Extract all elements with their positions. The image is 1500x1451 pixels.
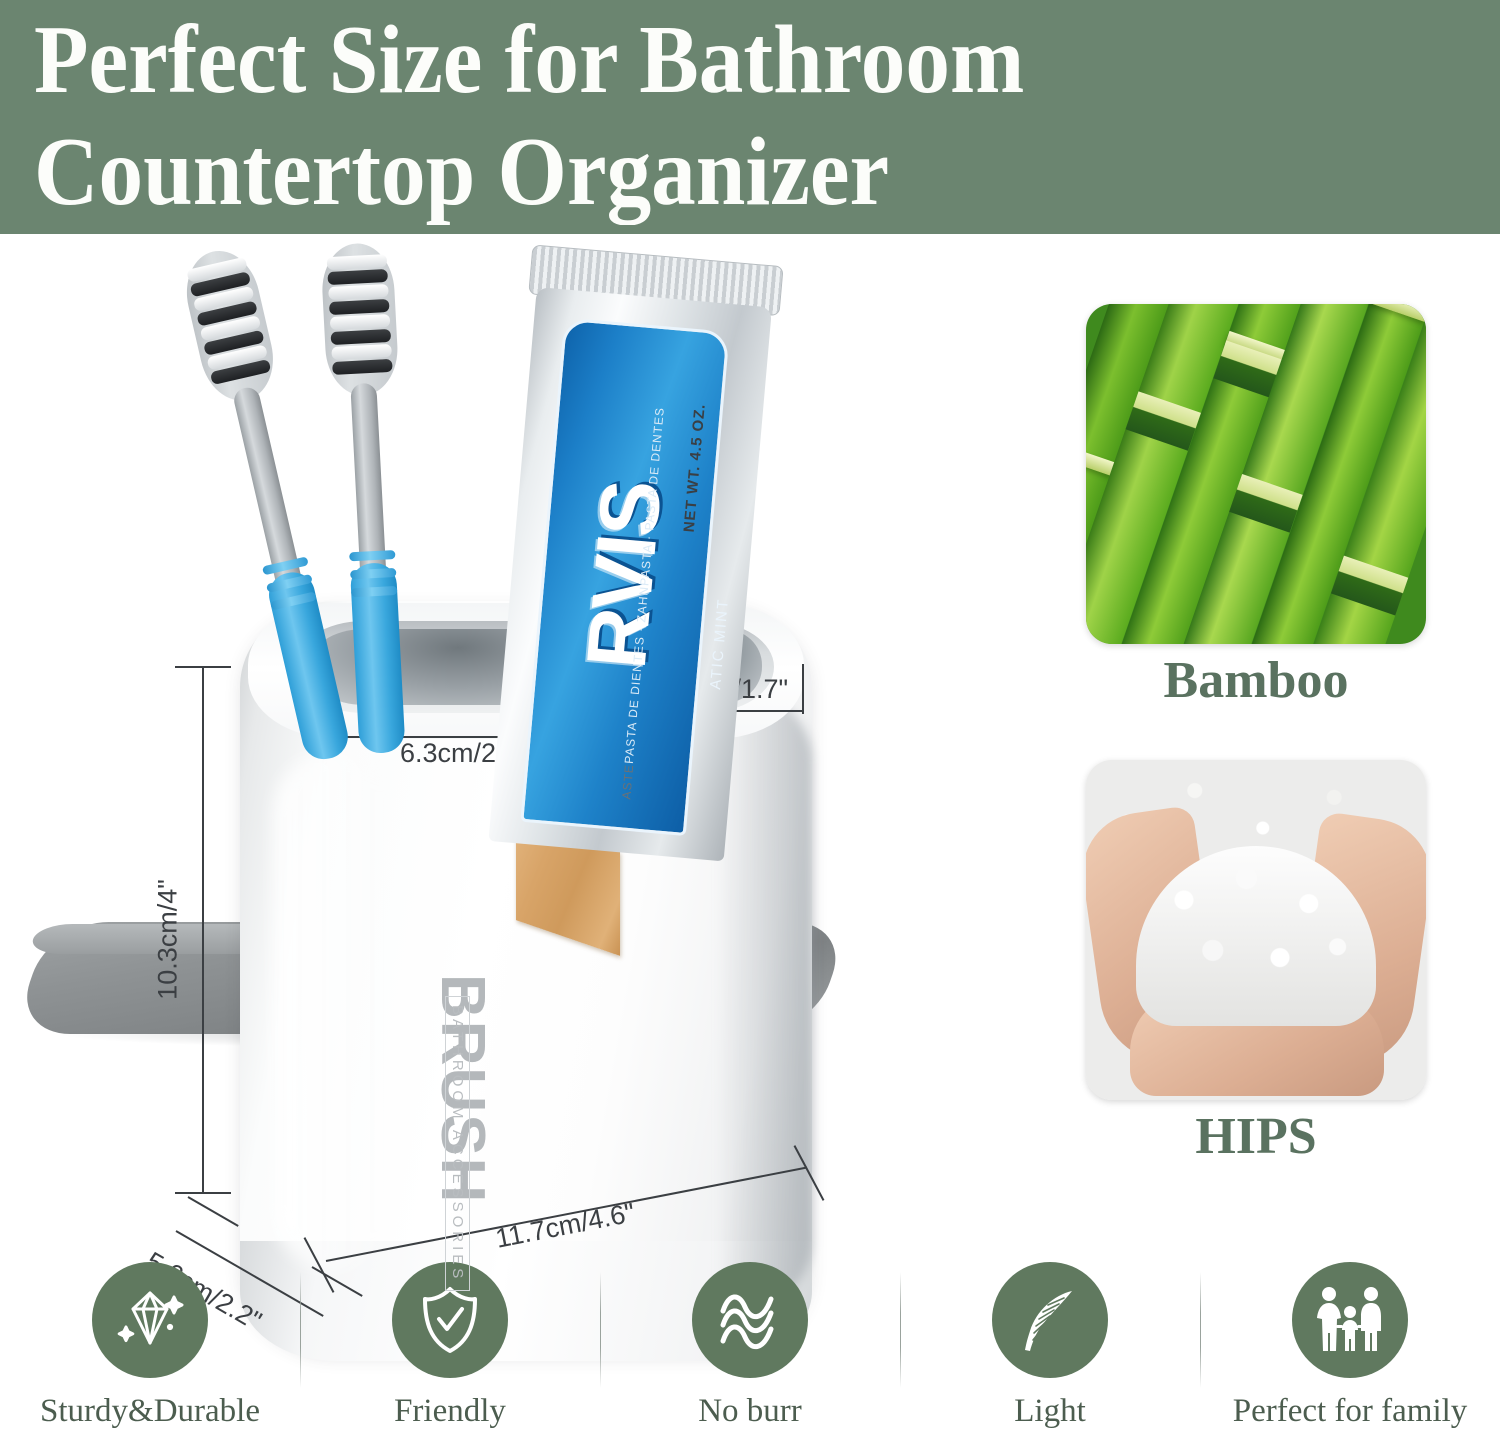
family-icon <box>1292 1262 1408 1378</box>
bamboo-node <box>1126 391 1201 450</box>
feature-light: Light <box>900 1262 1200 1430</box>
feature-label-no-burr: No burr <box>698 1392 802 1430</box>
feature-perfect-for-family: Perfect for family <box>1200 1262 1500 1430</box>
feature-separator <box>900 1272 901 1388</box>
material-label-bamboo: Bamboo <box>1086 652 1426 710</box>
feature-separator <box>600 1272 601 1388</box>
hips-image <box>1086 760 1426 1100</box>
product-brand-subtext: BATHROOM ACCESSORIES <box>445 996 470 1291</box>
dim-line-height <box>202 666 204 1194</box>
feature-separator <box>1200 1272 1201 1388</box>
header-text-block: Perfect Size for Bathroom Countertop Org… <box>34 4 1474 228</box>
toothpaste-brand: RVIS <box>561 407 686 744</box>
toothpaste-tube: RVIS ATIC MINT PASTA DE DIENTES · ZAHNPA… <box>474 244 783 864</box>
bristle <box>329 299 390 315</box>
feature-sturdy-durable: Sturdy&Durable <box>0 1262 300 1430</box>
toothbrush-head <box>320 242 400 398</box>
dim-tick-depth-top <box>188 1196 239 1227</box>
bristle <box>327 254 388 270</box>
dim-cap-height-top <box>175 666 231 668</box>
header-title-line-1: Perfect Size for Bathroom <box>34 4 1359 116</box>
bristle <box>331 344 392 360</box>
holder-highlight <box>274 751 394 1271</box>
bamboo-node <box>1369 304 1426 322</box>
header-banner: Perfect Size for Bathroom Countertop Org… <box>0 0 1500 234</box>
bamboo-node <box>1229 474 1303 533</box>
product-scene: RVIS ATIC MINT PASTA DE DIENTES · ZAHNPA… <box>0 234 1040 1254</box>
bamboo-image <box>1086 304 1426 644</box>
wavy-lines-icon <box>692 1262 808 1378</box>
feature-no-burr: No burr <box>600 1262 900 1430</box>
feature-label-perfect-for-family: Perfect for family <box>1233 1392 1468 1430</box>
dim-label-height: 10.3cm/4" <box>153 830 184 1050</box>
dim-cap-height-bottom <box>175 1192 231 1194</box>
hips-photo <box>1086 760 1426 1100</box>
feature-label-sturdy-durable: Sturdy&Durable <box>40 1392 260 1430</box>
bamboo-node <box>1331 556 1408 616</box>
material-label-hips: HIPS <box>1086 1108 1426 1166</box>
bamboo-photo <box>1086 304 1426 644</box>
dim-tick-side-right <box>802 664 804 714</box>
grip-ring <box>349 550 395 561</box>
material-card-hips: HIPS <box>1086 760 1426 1166</box>
bristle <box>331 329 392 345</box>
feature-separator <box>300 1272 301 1388</box>
bristle <box>328 284 389 300</box>
bristle <box>327 269 388 285</box>
product-infographic: Perfect Size for Bathroom Countertop Org… <box>0 0 1500 1451</box>
feature-strip: Sturdy&Durable Friendly No burr <box>0 1262 1500 1451</box>
feature-label-light: Light <box>1014 1392 1086 1430</box>
bristle <box>332 359 393 375</box>
header-title-line-2: Countertop Organizer <box>34 116 1359 228</box>
feather-icon <box>992 1262 1108 1378</box>
feature-label-friendly: Friendly <box>394 1392 506 1430</box>
material-card-bamboo: Bamboo <box>1086 304 1426 710</box>
toothbrush-head <box>178 244 282 408</box>
diamond-icon <box>92 1262 208 1378</box>
bristle <box>330 314 391 330</box>
